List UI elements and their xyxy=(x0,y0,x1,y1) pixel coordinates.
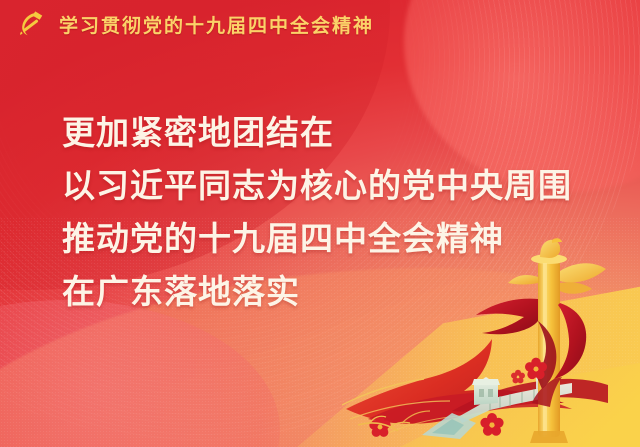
header-title: 学习贯彻党的十九届四中全会精神 xyxy=(59,11,374,38)
hammer-and-sickle-emblem-icon xyxy=(16,9,46,39)
poster-canvas: 学习贯彻党的十九届四中全会精神 更加紧密地团结在 以习近平同志为核心的党中央周围… xyxy=(0,0,640,447)
headline-line-3: 推动党的十九届四中全会精神 xyxy=(62,224,582,257)
header-band: 学习贯彻党的十九届四中全会精神 xyxy=(0,0,640,48)
headline-line-2: 以习近平同志为核心的党中央周围 xyxy=(62,171,582,204)
headline-line-1: 更加紧密地团结在 xyxy=(62,118,582,151)
headline-block: 更加紧密地团结在 以习近平同志为核心的党中央周围 推动党的十九届四中全会精神 在… xyxy=(62,118,582,310)
headline-line-4: 在广东落地落实 xyxy=(62,277,582,310)
